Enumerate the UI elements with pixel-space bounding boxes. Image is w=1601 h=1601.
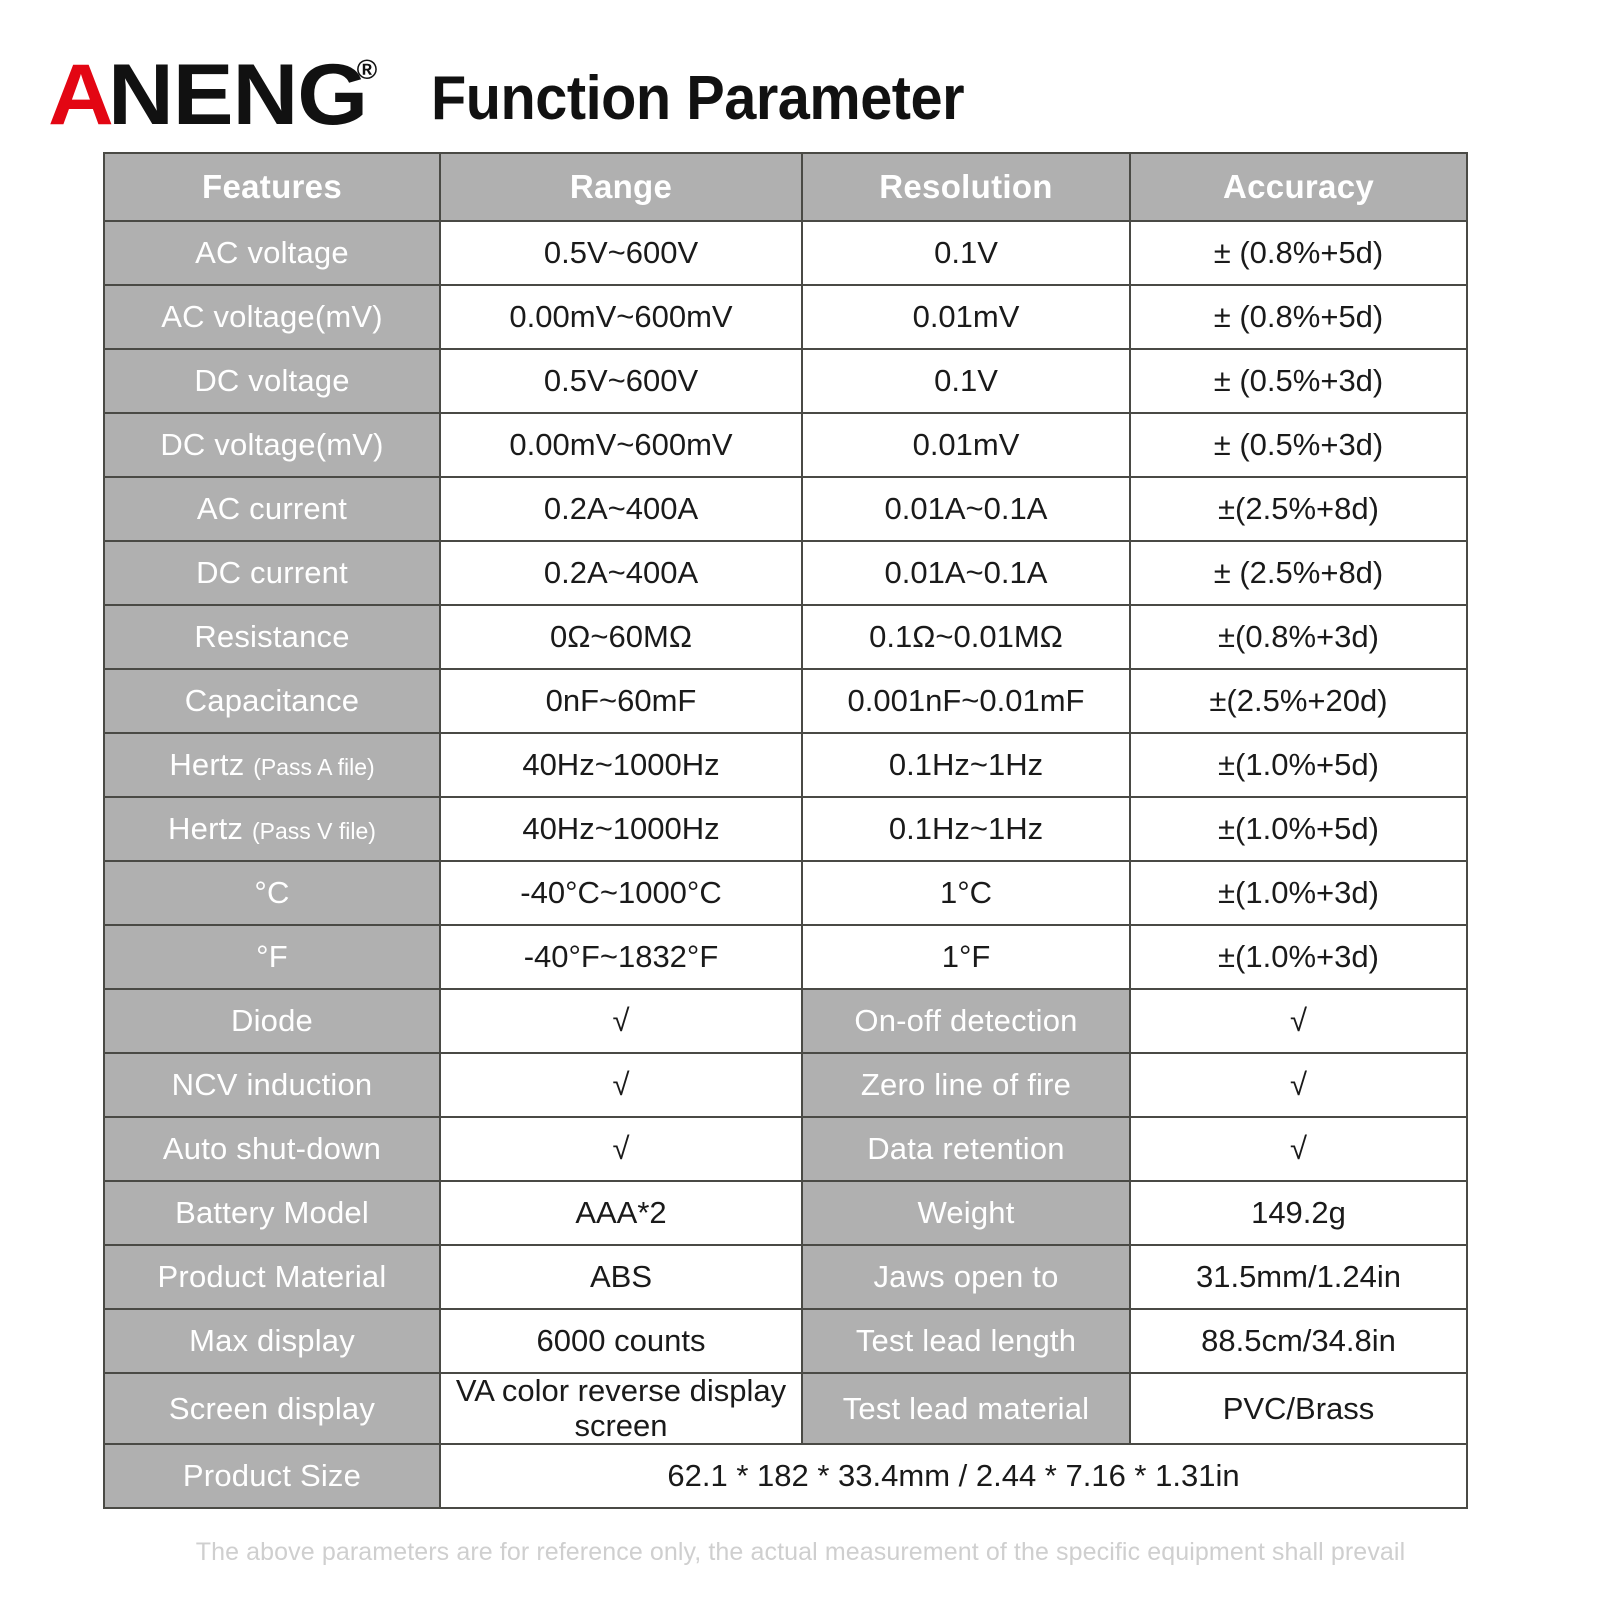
resolution-cell: 0.1Hz~1Hz [802,733,1130,797]
table-row: °C-40°C~1000°C1°C±(1.0%+3d) [104,861,1467,925]
table-row: DC voltage(mV)0.00mV~600mV0.01mV± (0.5%+… [104,413,1467,477]
table-row: DC current0.2A~400A0.01A~0.1A± (2.5%+8d) [104,541,1467,605]
resolution-cell: 0.1Hz~1Hz [802,797,1130,861]
secondary-feature-cell: Jaws open to [802,1245,1130,1309]
feature-cell: °C [104,861,440,925]
feature-cell: Hertz (Pass V file) [104,797,440,861]
secondary-feature-cell: On-off detection [802,989,1130,1053]
secondary-value-cell: PVC/Brass [1130,1373,1467,1444]
resolution-cell: 1°F [802,925,1130,989]
resolution-cell: 1°C [802,861,1130,925]
column-header-features: Features [104,153,440,221]
logo-text-neng: NENG [108,52,367,138]
column-header-resolution: Resolution [802,153,1130,221]
feature-cell: Capacitance [104,669,440,733]
logo-letter-a: A [48,52,112,138]
page-title: Function Parameter [431,63,964,138]
accuracy-cell: ± (0.8%+5d) [1130,285,1467,349]
table-row: °F-40°F~1832°F1°F±(1.0%+3d) [104,925,1467,989]
feature-value-cell: √ [440,1117,802,1181]
accuracy-cell: ±(1.0%+5d) [1130,733,1467,797]
range-cell: 0nF~60mF [440,669,802,733]
feature-subnote: (Pass V file) [252,818,376,844]
spec-table-body: AC voltage0.5V~600V0.1V± (0.8%+5d)AC vol… [104,221,1467,1508]
range-cell: -40°F~1832°F [440,925,802,989]
feature-value-cell: VA color reverse display screen [440,1373,802,1444]
feature-value-cell: √ [440,989,802,1053]
feature-cell: Battery Model [104,1181,440,1245]
feature-cell: DC voltage [104,349,440,413]
feature-cell: Hertz (Pass A file) [104,733,440,797]
feature-cell: °F [104,925,440,989]
accuracy-cell: ± (0.5%+3d) [1130,349,1467,413]
table-row: Product Size62.1 * 182 * 33.4mm / 2.44 *… [104,1444,1467,1508]
secondary-feature-cell: Zero line of fire [802,1053,1130,1117]
table-row: AC current0.2A~400A0.01A~0.1A±(2.5%+8d) [104,477,1467,541]
feature-cell: Product Material [104,1245,440,1309]
secondary-value-cell: √ [1130,1117,1467,1181]
resolution-cell: 0.01mV [802,413,1130,477]
range-cell: 0.2A~400A [440,541,802,605]
feature-cell: DC current [104,541,440,605]
feature-cell: NCV induction [104,1053,440,1117]
feature-cell: Screen display [104,1373,440,1444]
disclaimer-note: The above parameters are for reference o… [0,1538,1601,1567]
accuracy-cell: ±(0.8%+3d) [1130,605,1467,669]
product-size-value-cell: 62.1 * 182 * 33.4mm / 2.44 * 7.16 * 1.31… [440,1444,1467,1508]
resolution-cell: 0.1V [802,349,1130,413]
range-cell: -40°C~1000°C [440,861,802,925]
range-cell: 0.5V~600V [440,349,802,413]
spec-table-wrap: Features Range Resolution Accuracy AC vo… [103,152,1466,1509]
feature-cell: AC voltage [104,221,440,285]
feature-cell: Auto shut-down [104,1117,440,1181]
feature-subnote: (Pass A file) [253,754,374,780]
secondary-feature-cell: Test lead length [802,1309,1130,1373]
accuracy-cell: ±(2.5%+8d) [1130,477,1467,541]
table-row: AC voltage(mV)0.00mV~600mV0.01mV± (0.8%+… [104,285,1467,349]
column-header-range: Range [440,153,802,221]
table-row: Hertz (Pass V file)40Hz~1000Hz0.1Hz~1Hz±… [104,797,1467,861]
table-row: Hertz (Pass A file)40Hz~1000Hz0.1Hz~1Hz±… [104,733,1467,797]
feature-value-cell: 6000 counts [440,1309,802,1373]
feature-name: Hertz [168,811,243,846]
table-row: NCV induction√Zero line of fire√ [104,1053,1467,1117]
resolution-cell: 0.001nF~0.01mF [802,669,1130,733]
page-header: A NENG ® Function Parameter [48,38,1548,138]
accuracy-cell: ±(2.5%+20d) [1130,669,1467,733]
feature-value-cell: ABS [440,1245,802,1309]
table-row: Diode√On-off detection√ [104,989,1467,1053]
accuracy-cell: ± (0.8%+5d) [1130,221,1467,285]
range-cell: 0.5V~600V [440,221,802,285]
feature-cell: DC voltage(mV) [104,413,440,477]
resolution-cell: 0.01A~0.1A [802,477,1130,541]
secondary-value-cell: 149.2g [1130,1181,1467,1245]
table-row: Capacitance0nF~60mF0.001nF~0.01mF±(2.5%+… [104,669,1467,733]
table-row: Product MaterialABSJaws open to31.5mm/1.… [104,1245,1467,1309]
table-row: Screen displayVA color reverse display s… [104,1373,1467,1444]
secondary-feature-cell: Data retention [802,1117,1130,1181]
resolution-cell: 0.1Ω~0.01MΩ [802,605,1130,669]
feature-cell: Product Size [104,1444,440,1508]
secondary-value-cell: 88.5cm/34.8in [1130,1309,1467,1373]
accuracy-cell: ±(1.0%+3d) [1130,925,1467,989]
feature-cell: AC current [104,477,440,541]
range-cell: 0.2A~400A [440,477,802,541]
secondary-value-cell: √ [1130,1053,1467,1117]
table-header-row: Features Range Resolution Accuracy [104,153,1467,221]
accuracy-cell: ±(1.0%+3d) [1130,861,1467,925]
feature-cell: Max display [104,1309,440,1373]
resolution-cell: 0.01A~0.1A [802,541,1130,605]
feature-cell: Diode [104,989,440,1053]
aneng-logo: A NENG ® [48,52,377,138]
feature-value-cell: AAA*2 [440,1181,802,1245]
feature-value-cell: √ [440,1053,802,1117]
range-cell: 0.00mV~600mV [440,413,802,477]
range-cell: 40Hz~1000Hz [440,797,802,861]
resolution-cell: 0.01mV [802,285,1130,349]
table-row: AC voltage0.5V~600V0.1V± (0.8%+5d) [104,221,1467,285]
function-parameter-table: Features Range Resolution Accuracy AC vo… [103,152,1468,1509]
accuracy-cell: ±(1.0%+5d) [1130,797,1467,861]
table-row: DC voltage0.5V~600V0.1V± (0.5%+3d) [104,349,1467,413]
table-row: Resistance0Ω~60MΩ0.1Ω~0.01MΩ±(0.8%+3d) [104,605,1467,669]
feature-cell: AC voltage(mV) [104,285,440,349]
secondary-value-cell: √ [1130,989,1467,1053]
feature-name: Hertz [169,747,244,782]
accuracy-cell: ± (2.5%+8d) [1130,541,1467,605]
spec-sheet-page: A NENG ® Function Parameter Features Ran… [0,0,1601,1601]
table-row: Auto shut-down√Data retention√ [104,1117,1467,1181]
column-header-accuracy: Accuracy [1130,153,1467,221]
table-row: Battery ModelAAA*2Weight149.2g [104,1181,1467,1245]
secondary-feature-cell: Test lead material [802,1373,1130,1444]
secondary-feature-cell: Weight [802,1181,1130,1245]
secondary-value-cell: 31.5mm/1.24in [1130,1245,1467,1309]
table-row: Max display6000 countsTest lead length88… [104,1309,1467,1373]
range-cell: 0Ω~60MΩ [440,605,802,669]
range-cell: 0.00mV~600mV [440,285,802,349]
resolution-cell: 0.1V [802,221,1130,285]
feature-cell: Resistance [104,605,440,669]
range-cell: 40Hz~1000Hz [440,733,802,797]
accuracy-cell: ± (0.5%+3d) [1130,413,1467,477]
